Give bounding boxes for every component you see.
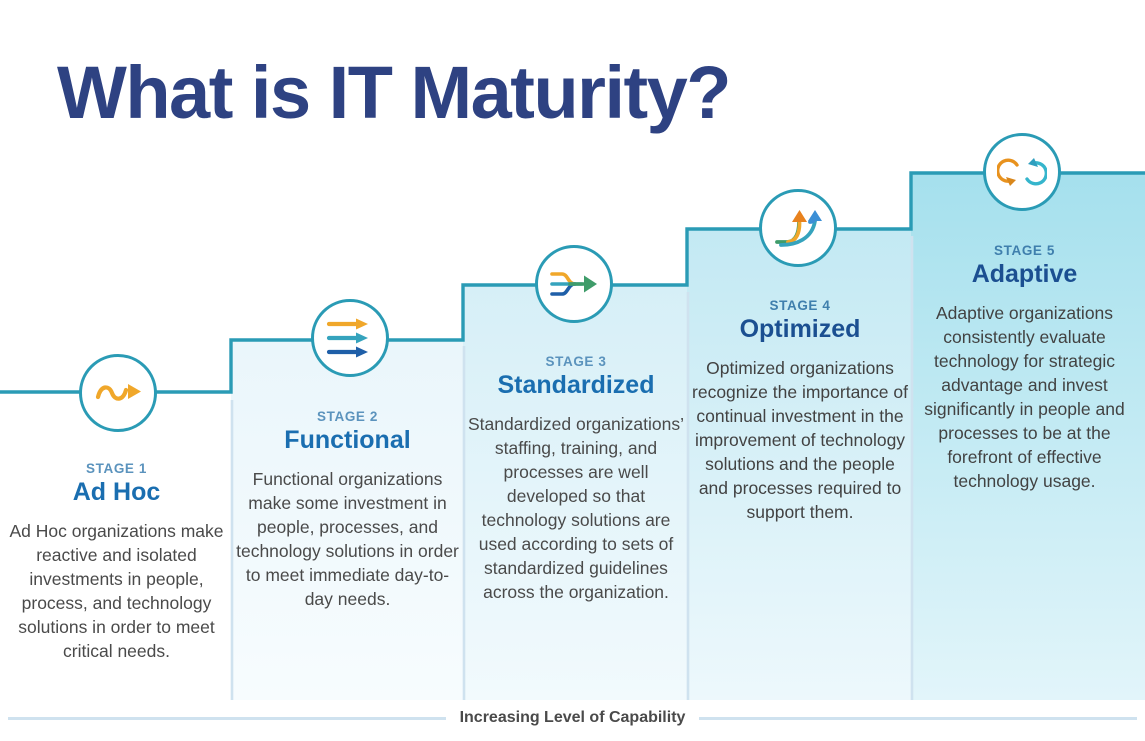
stage-4-title: Optimized <box>692 315 908 344</box>
capability-caption-text: Increasing Level of Capability <box>446 709 700 727</box>
stage-2-title: Functional <box>236 426 459 455</box>
stage-3-icon-badge <box>535 245 613 323</box>
wavy-arrow-icon <box>92 376 144 410</box>
stage-4-kicker: STAGE 4 <box>692 298 908 313</box>
stage-1-icon-badge <box>79 354 157 432</box>
stage-5-icon-badge <box>983 133 1061 211</box>
stage-5-title: Adaptive <box>918 260 1131 289</box>
stage-column-2: STAGE 2 Functional Functional organizati… <box>236 409 459 612</box>
stage-1-kicker: STAGE 1 <box>4 461 229 476</box>
stage-3-kicker: STAGE 3 <box>468 354 684 369</box>
stage-4-icon-badge <box>759 189 837 267</box>
stage-column-5: STAGE 5 Adaptive Adaptive organizations … <box>918 243 1131 494</box>
stage-1-title: Ad Hoc <box>4 478 229 507</box>
stage-4-description: Optimized organizations recognize the im… <box>692 357 908 525</box>
stage-5-kicker: STAGE 5 <box>918 243 1131 258</box>
converging-arrows-icon <box>548 265 600 303</box>
rising-arrows-icon <box>774 208 822 248</box>
stage-2-kicker: STAGE 2 <box>236 409 459 424</box>
three-parallel-arrows-icon <box>325 317 375 359</box>
stage-column-3: STAGE 3 Standardized Standardized organi… <box>468 354 684 605</box>
stage-5-description: Adaptive organizations consistently eval… <box>918 302 1131 494</box>
infinity-loop-arrows-icon <box>997 155 1047 189</box>
stage-column-4: STAGE 4 Optimized Optimized organization… <box>692 298 908 525</box>
capability-caption: Increasing Level of Capability <box>0 709 1145 727</box>
stage-3-title: Standardized <box>468 371 684 400</box>
stage-1-description: Ad Hoc organizations make reactive and i… <box>4 520 229 664</box>
page-title: What is IT Maturity? <box>57 50 730 135</box>
stage-2-icon-badge <box>311 299 389 377</box>
stage-3-description: Standardized organizations’ staffing, tr… <box>468 413 684 605</box>
stage-2-description: Functional organizations make some inves… <box>236 468 459 612</box>
stage-column-1: STAGE 1 Ad Hoc Ad Hoc organizations make… <box>4 461 229 664</box>
